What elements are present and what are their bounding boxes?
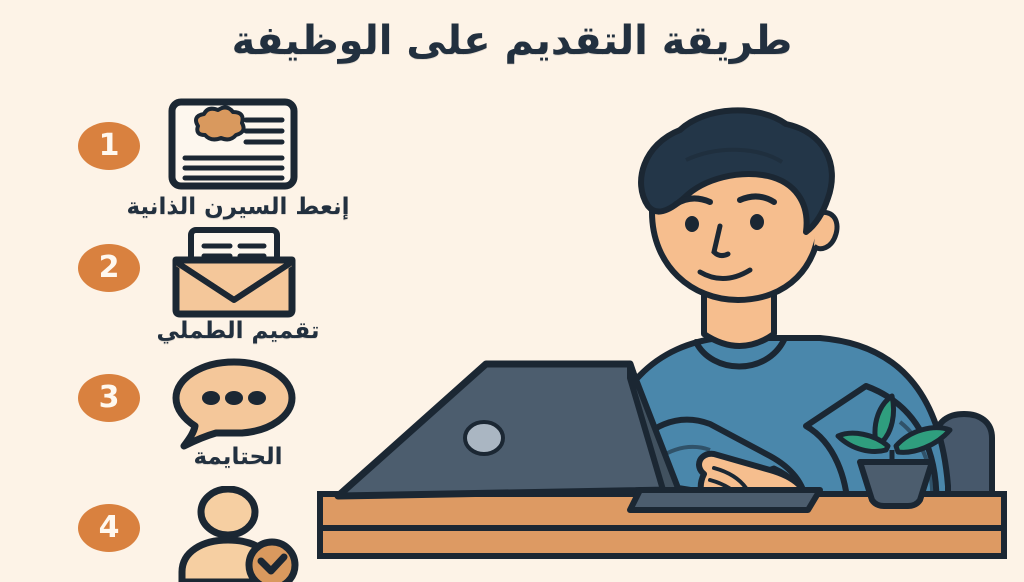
- step-badge-3: 3: [78, 374, 140, 422]
- cv-document-icon: [158, 96, 308, 192]
- step-badge-4: 4: [78, 504, 140, 552]
- step-badge-1: 1: [78, 122, 140, 170]
- page-title: طريقة التقديم على الوظيفة: [0, 18, 1024, 64]
- step-badge-2: 2: [78, 244, 140, 292]
- envelope-letter-icon: [158, 226, 308, 322]
- speech-bubble-icon: [158, 356, 308, 452]
- infographic-canvas: طريقة التقديم على الوظيفة 1: [0, 0, 1024, 576]
- user-verified-icon: [158, 486, 308, 582]
- man-working-on-laptop-illustration: [300, 86, 1024, 576]
